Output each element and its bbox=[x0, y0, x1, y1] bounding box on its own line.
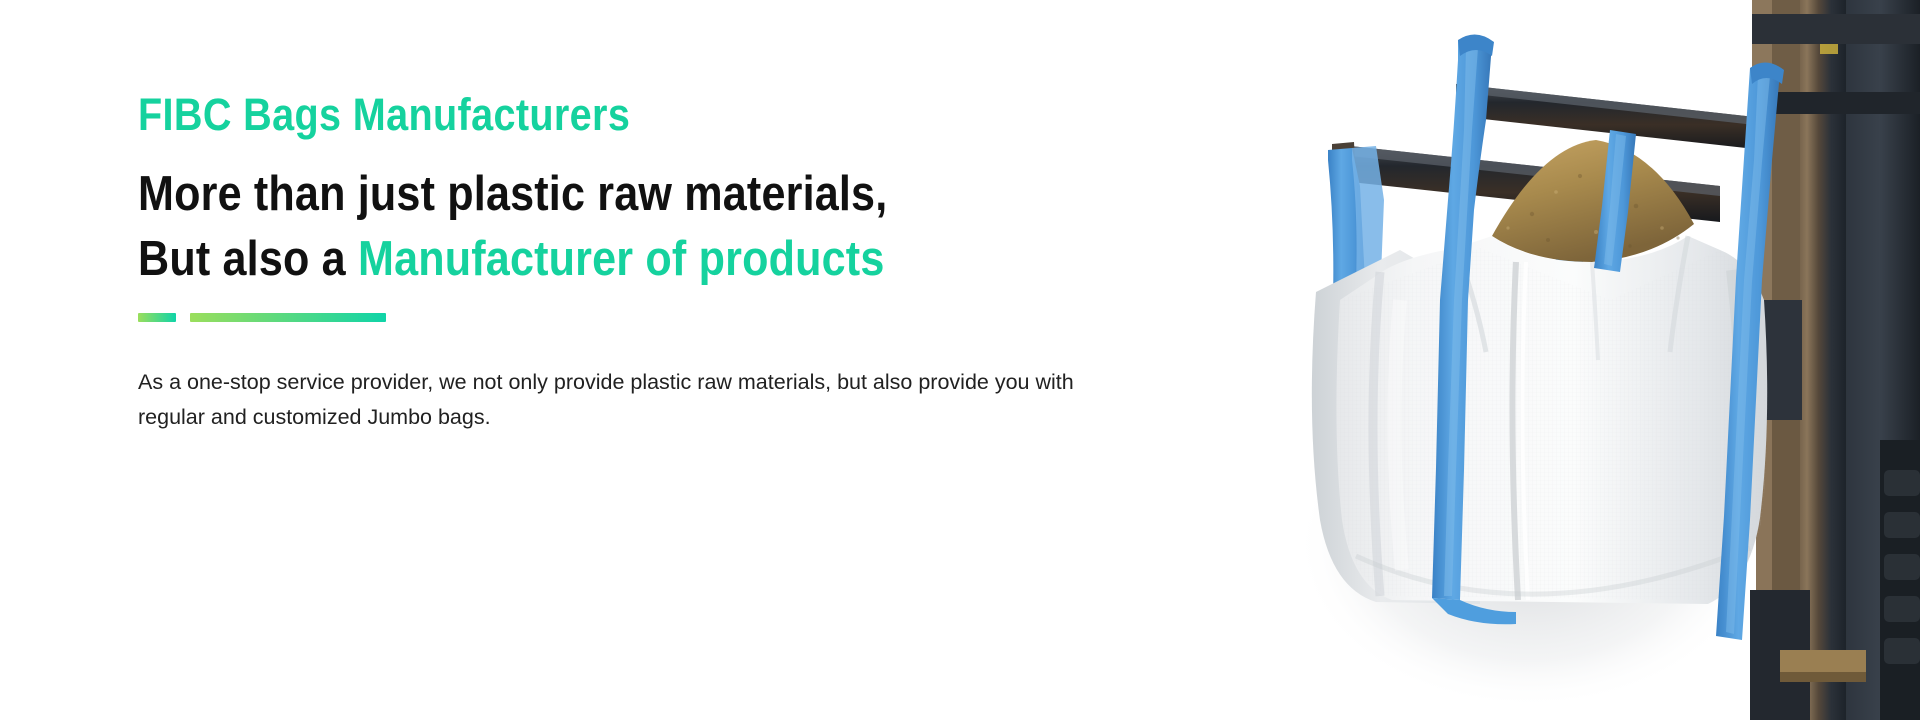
hero-banner: FIBC Bags Manufacturers More than just p… bbox=[0, 0, 1920, 720]
headline-line-1: More than just plastic raw materials, bbox=[138, 167, 1027, 222]
hero-body-text: As a one-stop service provider, we not o… bbox=[138, 365, 1098, 435]
divider bbox=[138, 313, 1148, 323]
fibc-bulk-bag-on-forklift-photo bbox=[1280, 0, 1920, 720]
hero-eyebrow: FIBC Bags Manufacturers bbox=[138, 92, 1027, 137]
headline-line-2-accent: Manufacturer of products bbox=[358, 232, 884, 286]
divider-bar-short bbox=[138, 313, 176, 322]
headline-line-2-plain: But also a bbox=[138, 232, 358, 286]
fibc-bulk-bag-illustration bbox=[1280, 0, 1920, 720]
hero-text-block: FIBC Bags Manufacturers More than just p… bbox=[138, 92, 1148, 434]
divider-bar-long bbox=[190, 313, 386, 322]
hero-headline: More than just plastic raw materials, Bu… bbox=[138, 167, 1148, 287]
headline-line-2: But also a Manufacturer of products bbox=[138, 232, 1027, 287]
